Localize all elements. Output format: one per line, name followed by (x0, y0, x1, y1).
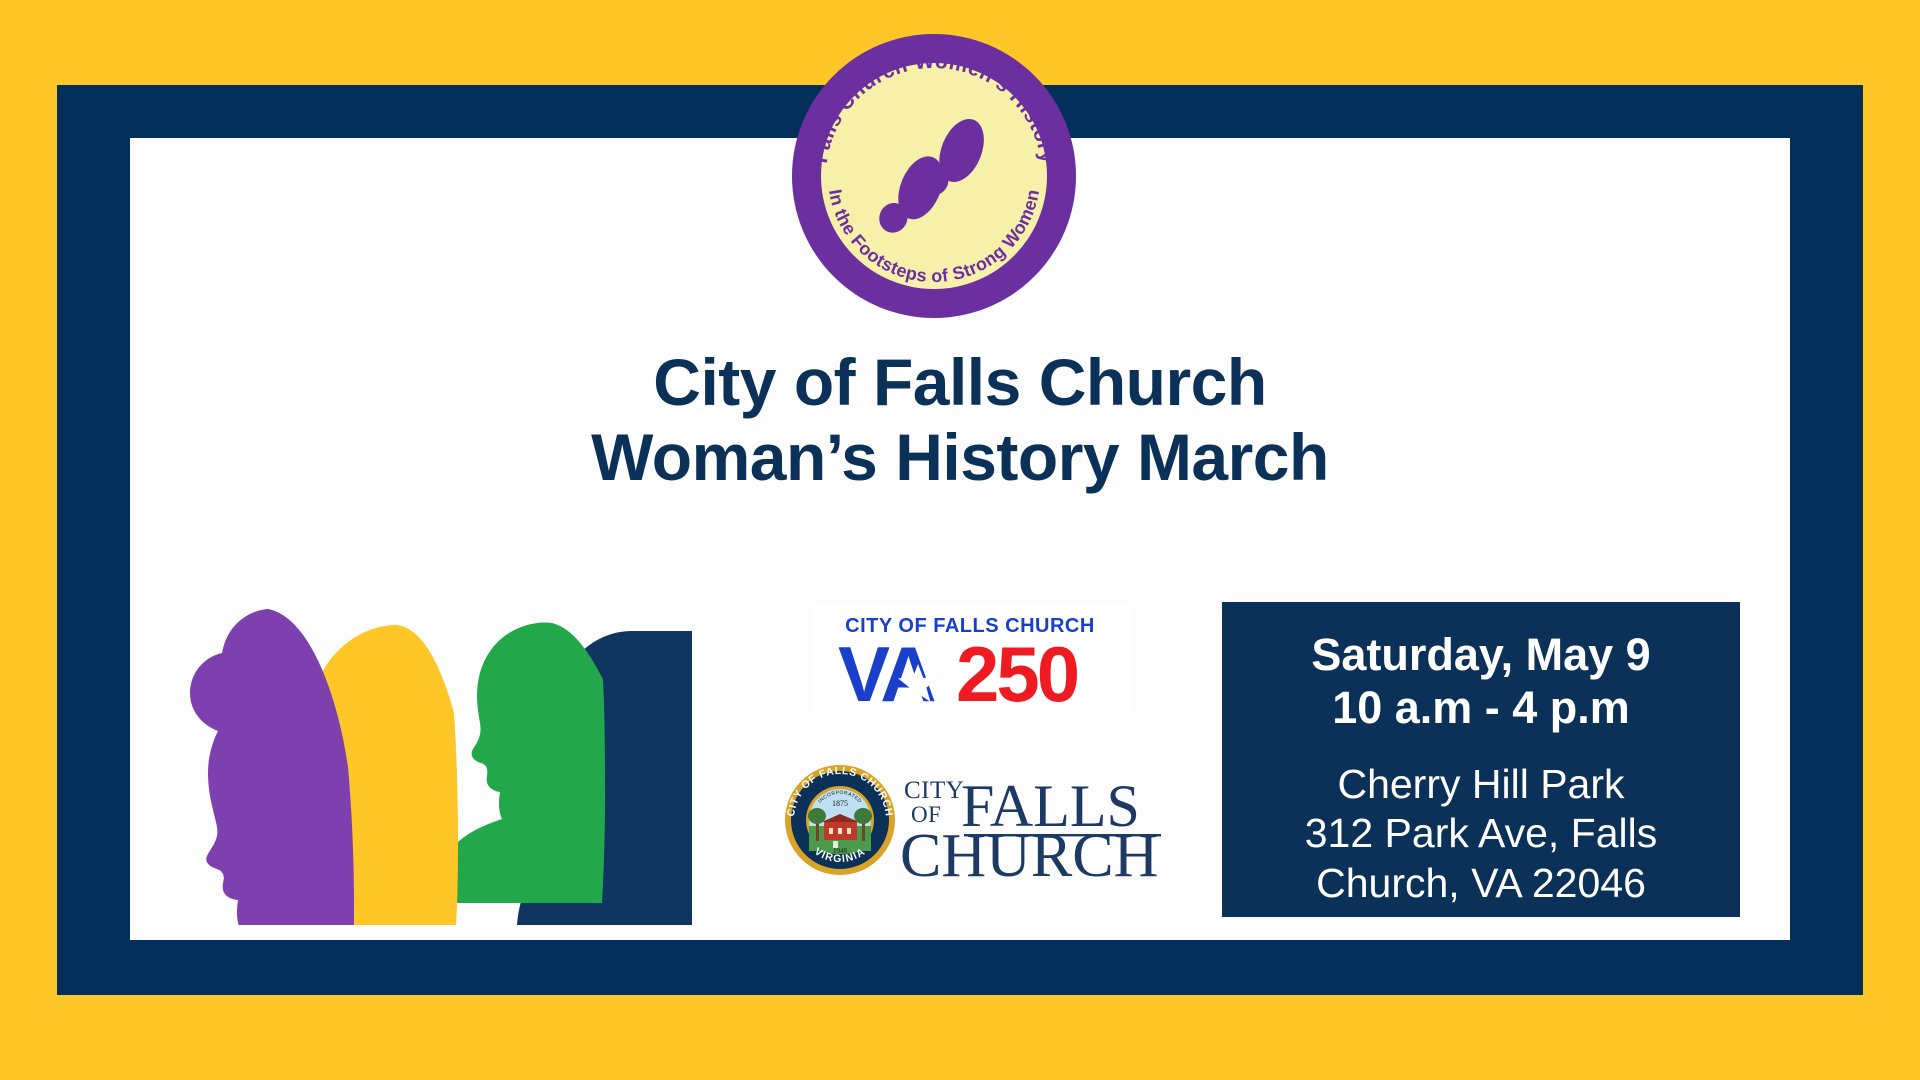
page-title: City of Falls Church Woman’s History Mar… (130, 345, 1790, 494)
womens-history-badge-logo: Falls Church Women’s History In the Foot… (790, 32, 1078, 320)
city-of-falls-church-logo: INCORPORATED 1875 1948 CITY OF FALLS CHU… (778, 758, 1163, 883)
title-line-2: Woman’s History March (130, 420, 1790, 495)
women-silhouettes-illustration (160, 595, 770, 925)
event-address-line-2: Church, VA 22046 (1236, 859, 1726, 908)
falls-church-wordmark-text: CITY OF FALLS CHURCH (900, 773, 1161, 883)
event-address-line-1: 312 Park Ave, Falls (1236, 809, 1726, 858)
event-time: 10 a.m - 4 p.m (1236, 681, 1726, 734)
city-seal-icon: INCORPORATED 1875 1948 CITY OF FALLS CHU… (785, 765, 895, 875)
event-details-box: Saturday, May 9 10 a.m - 4 p.m Cherry Hi… (1222, 602, 1740, 917)
event-date: Saturday, May 9 (1236, 628, 1726, 681)
event-venue: Cherry Hill Park (1236, 760, 1726, 809)
wordmark-church: CHURCH (900, 822, 1158, 883)
wordmark-city: CITY (904, 777, 964, 804)
event-where: Cherry Hill Park 312 Park Ave, Falls Chu… (1236, 760, 1726, 908)
event-when: Saturday, May 9 10 a.m - 4 p.m (1236, 628, 1726, 734)
flyer-canvas: Falls Church Women’s History In the Foot… (0, 0, 1920, 1080)
title-line-1: City of Falls Church (130, 345, 1790, 420)
va250-logo: CITY OF FALLS CHURCH VA 250 (810, 604, 1130, 714)
va250-number-text: 250 (956, 630, 1078, 714)
seal-year-top: 1875 (832, 799, 848, 808)
